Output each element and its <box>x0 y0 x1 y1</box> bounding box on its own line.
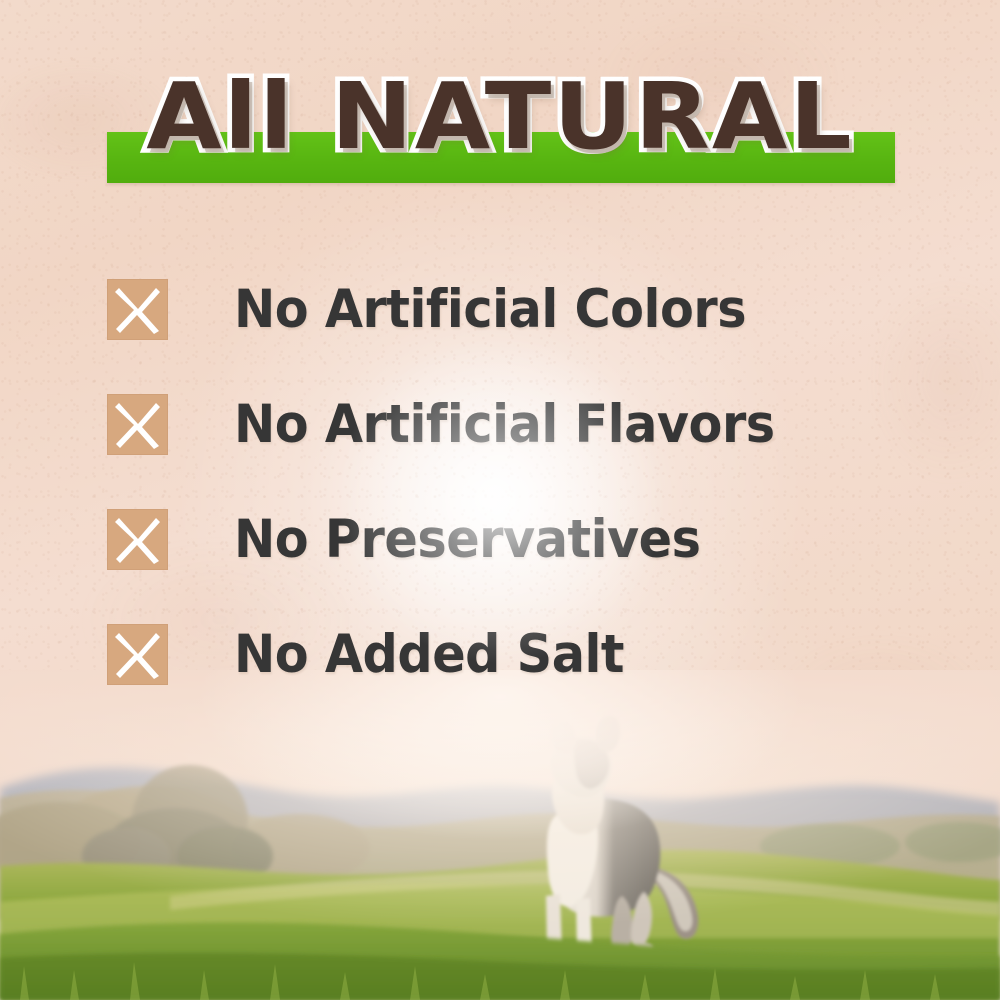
x-mark-icon <box>107 624 168 685</box>
list-item: No Artificial Flavors <box>107 367 927 482</box>
list-item: No Added Salt <box>107 597 927 712</box>
list-item-label: No Preservatives <box>234 511 701 569</box>
claims-list: No Artificial Colors No Artificial Flavo… <box>107 252 927 712</box>
list-item-label: No Added Salt <box>234 626 624 684</box>
x-mark-icon <box>107 394 168 455</box>
product-feature-card: All NATURAL No Artificial Colors No Arti… <box>0 0 1000 1000</box>
list-item-label: No Artificial Colors <box>234 281 746 339</box>
x-mark-icon <box>107 509 168 570</box>
list-item-label: No Artificial Flavors <box>234 396 775 454</box>
border-collie-on-grassy-hill-photo <box>0 670 1000 1000</box>
list-item: No Artificial Colors <box>107 252 927 367</box>
x-mark-icon <box>107 279 168 340</box>
headline-banner: All NATURAL <box>0 58 1000 198</box>
list-item: No Preservatives <box>107 482 927 597</box>
page-title: All NATURAL <box>0 58 1000 176</box>
